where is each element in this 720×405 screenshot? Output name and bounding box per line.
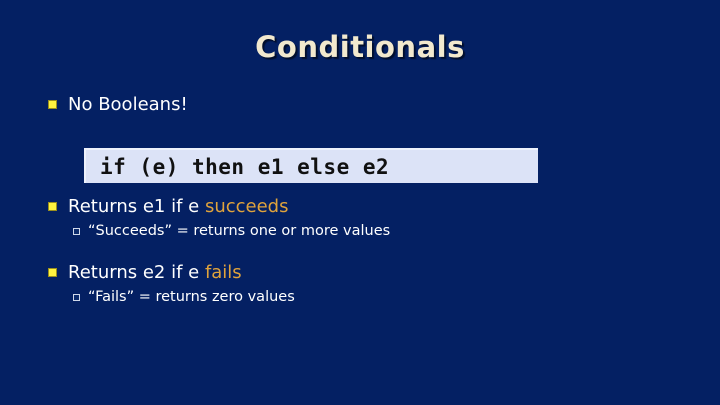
list-item: “Succeeds” = returns one or more values [0,221,720,242]
list-item: Returns e1 if e succeeds [0,194,720,219]
list-item: “Fails” = returns zero values [0,287,720,308]
list-item-label: “Succeeds” = returns one or more values [88,221,390,242]
list-item-label: No Booleans! [68,92,188,117]
code-block-gap [0,119,720,194]
square-bullet-icon [73,294,80,301]
list-item-label: “Fails” = returns zero values [88,287,295,308]
list-gap [0,244,720,260]
list-item-label-highlight: fails [205,262,242,283]
list-item: No Booleans! [0,92,720,117]
square-bullet-icon [48,100,57,109]
list-item-label-highlight: succeeds [205,196,289,217]
list-item-label: Returns e2 if e fails [68,260,242,285]
square-bullet-icon [48,268,57,277]
list-item-label: Returns e1 if e succeeds [68,194,288,219]
bullet-list: No Booleans! Returns e1 if e succeeds “S… [0,92,720,310]
square-bullet-icon [48,202,57,211]
list-item-label-prefix: Returns e2 if e [68,262,205,283]
list-item: Returns e2 if e fails [0,260,720,285]
page-title: Conditionals [0,30,720,64]
square-bullet-icon [73,228,80,235]
slide-canvas: Conditionals if (e) then e1 else e2 No B… [0,0,720,405]
list-item-label-prefix: Returns e1 if e [68,196,205,217]
